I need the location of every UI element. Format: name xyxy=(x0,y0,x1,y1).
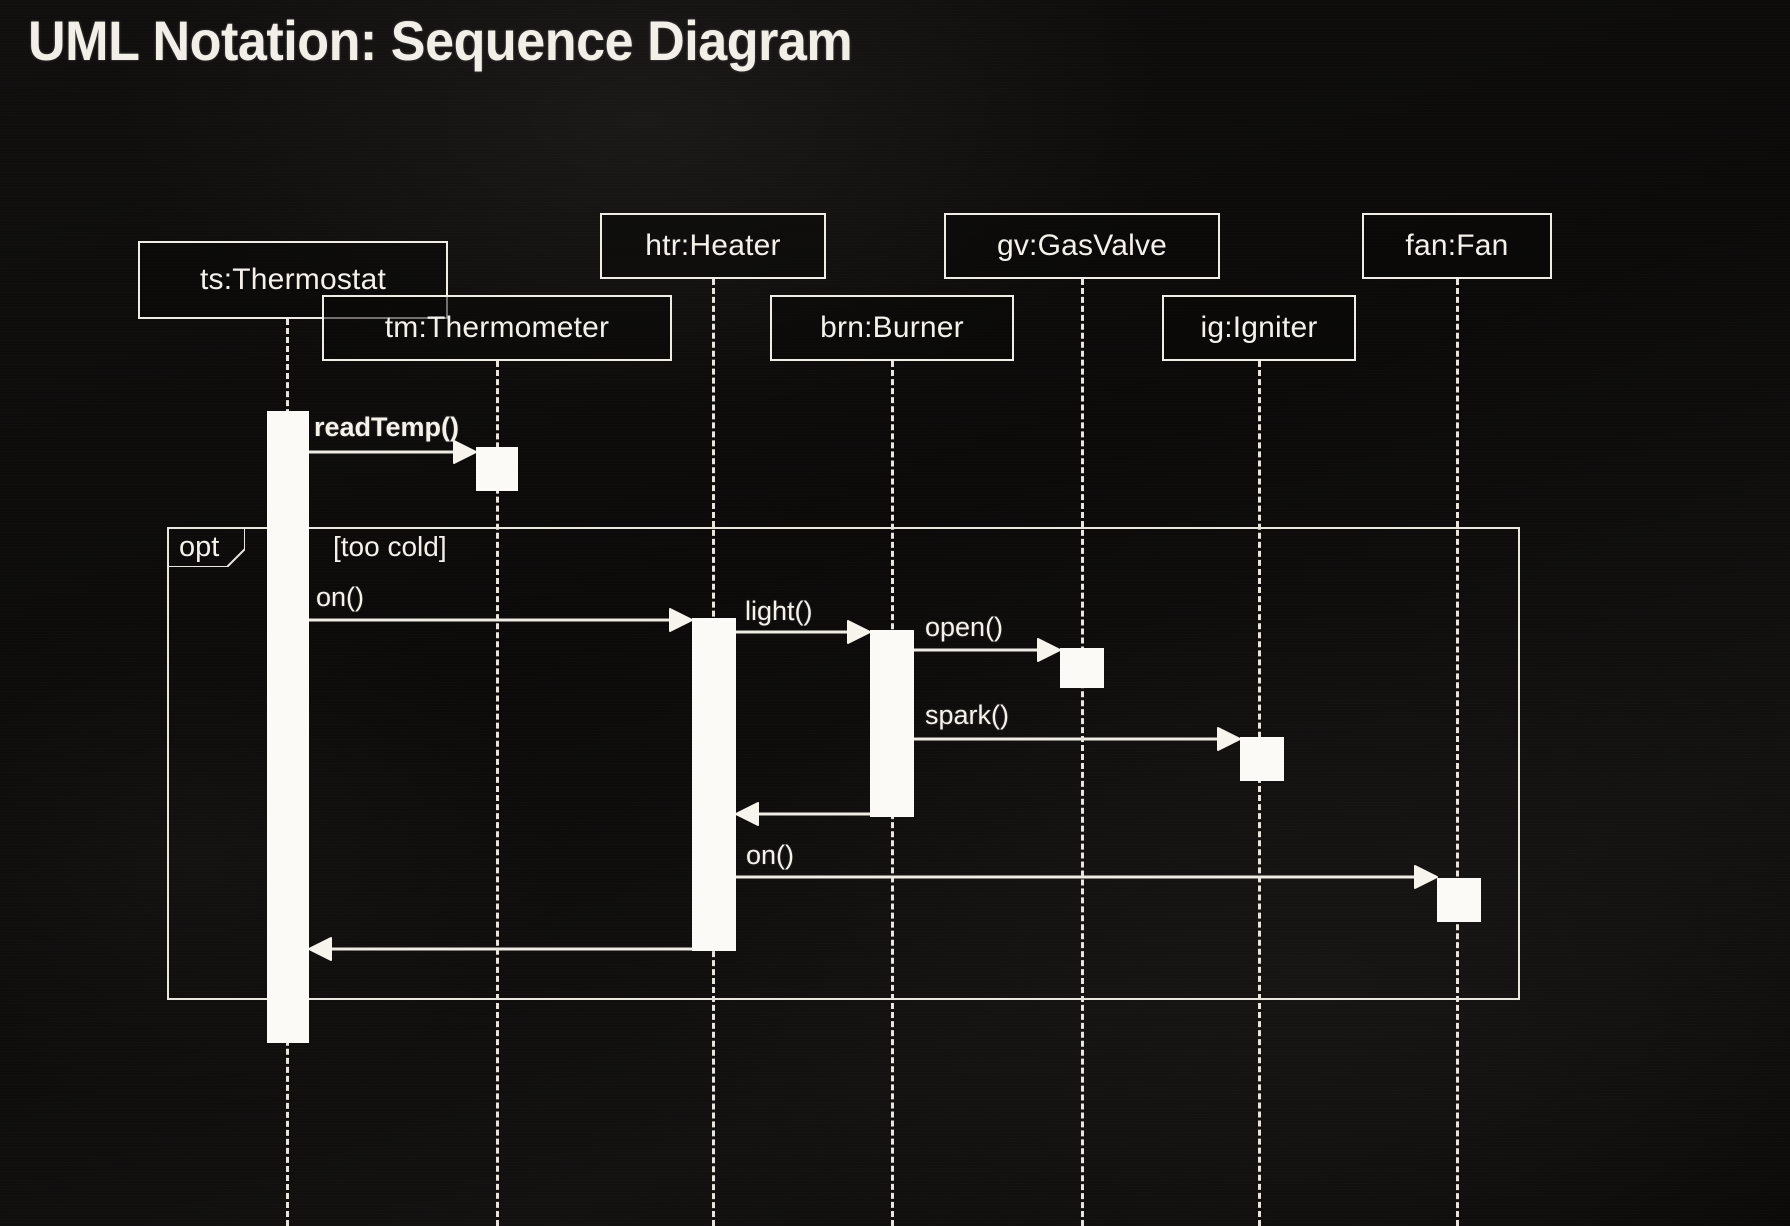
opt-fragment-guard: [too cold] xyxy=(333,531,447,563)
activation-bar-htr xyxy=(692,618,736,951)
message-label-m5: spark() xyxy=(925,700,1009,731)
opt-fragment-operator: opt xyxy=(167,527,245,567)
activation-bar-brn xyxy=(870,630,914,817)
activation-bar-tm xyxy=(476,447,518,491)
participant-box-ig[interactable]: ig:Igniter xyxy=(1162,295,1356,361)
message-label-m3: light() xyxy=(745,596,813,627)
message-label-m4: open() xyxy=(925,612,1003,643)
message-label-m7: on() xyxy=(746,840,794,871)
message-label-m2: on() xyxy=(316,582,364,613)
participant-box-htr[interactable]: htr:Heater xyxy=(600,213,826,279)
sequence-diagram-canvas: opt[too cold]ts:Thermostattm:Thermometer… xyxy=(0,0,1790,1226)
activation-bar-gv xyxy=(1060,648,1104,688)
activation-bar-fan xyxy=(1437,878,1481,922)
participant-box-gv[interactable]: gv:GasValve xyxy=(944,213,1220,279)
opt-fragment-operator-label: opt xyxy=(179,531,219,564)
participant-box-brn[interactable]: brn:Burner xyxy=(770,295,1014,361)
participant-box-tm[interactable]: tm:Thermometer xyxy=(322,295,672,361)
message-arrowhead-m1 xyxy=(454,441,476,463)
activation-bar-ts xyxy=(267,411,309,1043)
message-label-m1: readTemp() xyxy=(314,412,459,443)
opt-fragment-frame xyxy=(167,527,1520,1000)
activation-bar-ig xyxy=(1240,737,1284,781)
participant-box-fan[interactable]: fan:Fan xyxy=(1362,213,1552,279)
